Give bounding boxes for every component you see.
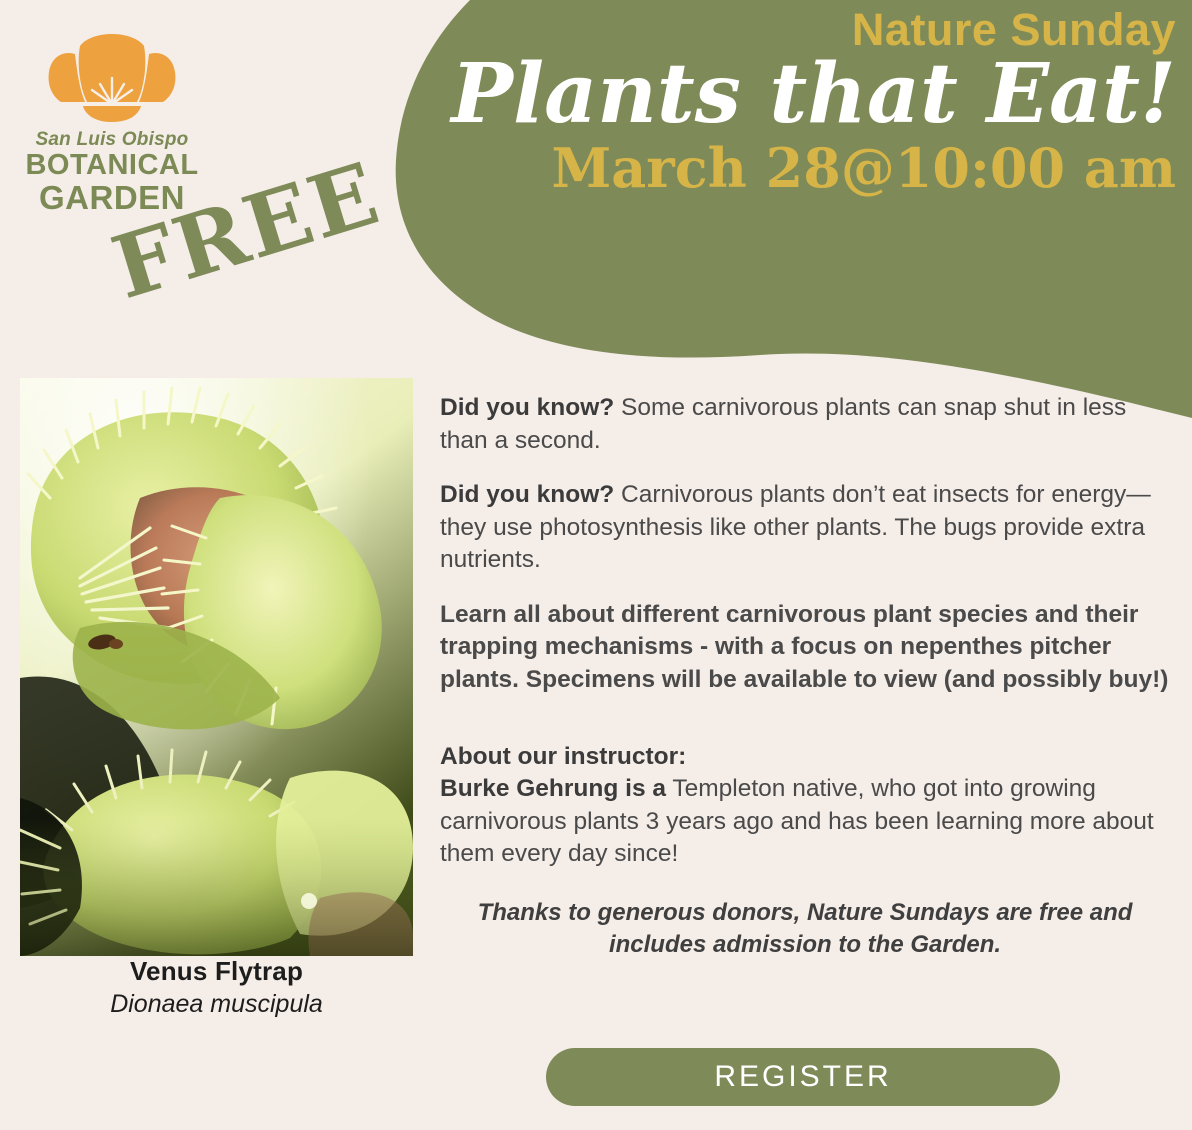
register-button[interactable]: REGISTER (546, 1048, 1060, 1106)
instructor-heading: About our instructor: (440, 743, 686, 770)
logo-line-san-luis-obispo: San Luis Obispo (12, 129, 212, 151)
fact-1-lead: Did you know? (440, 394, 614, 421)
logo-line-botanical: BOTANICAL (12, 151, 212, 181)
flyer-poster: San Luis Obispo BOTANICAL GARDEN FREE Na… (0, 0, 1192, 1130)
body-content: Did you know? Some carnivorous plants ca… (440, 392, 1170, 962)
brand-logo: San Luis Obispo BOTANICAL GARDEN (12, 22, 212, 214)
poppy-flower-icon (37, 22, 187, 127)
instructor-name-lead: Burke Gehrung is a (440, 775, 666, 802)
photo-caption-title: Venus Flytrap (20, 956, 413, 987)
page-title: Plants that Eat! (416, 51, 1176, 137)
thanks-note: Thanks to generous donors, Nature Sunday… (440, 897, 1170, 962)
photo-caption-scientific-name: Dionaea muscipula (20, 990, 413, 1019)
instructor-paragraph: About our instructor: Burke Gehrung is a… (440, 741, 1170, 871)
fact-2-lead: Did you know? (440, 481, 614, 508)
fact-paragraph-1: Did you know? Some carnivorous plants ca… (440, 392, 1170, 457)
venus-flytrap-photo (20, 378, 413, 956)
learn-paragraph: Learn all about different carnivorous pl… (440, 599, 1170, 697)
fact-paragraph-2: Did you know? Carnivorous plants don’t e… (440, 479, 1170, 577)
header-block: Nature Sunday Plants that Eat! March 28@… (416, 0, 1176, 199)
event-datetime: March 28@10:00 am (416, 139, 1176, 198)
